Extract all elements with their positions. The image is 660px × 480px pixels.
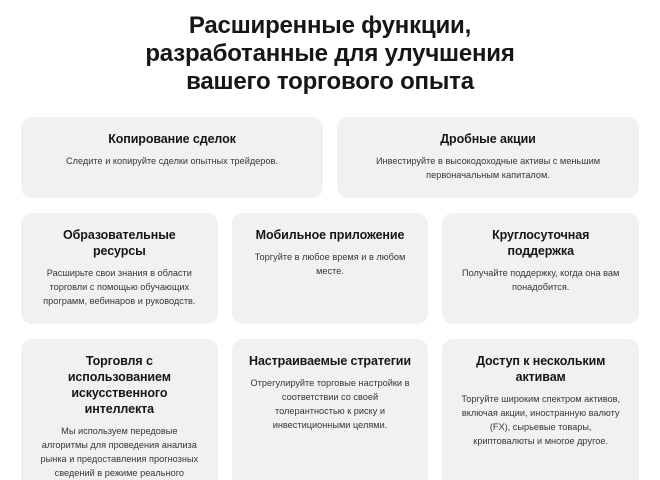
feature-card-description: Получайте поддержку, когда она вам понад… [458, 266, 623, 294]
page-title-line-2: разработанные для улучшения [120, 40, 540, 68]
feature-card-mobile-app[interactable]: Мобильное приложение Торгуйте в любое вр… [232, 213, 429, 324]
page-title-line-3: вашего торгового опыта [120, 68, 540, 96]
features-page: Расширенные функции, разработанные для у… [0, 0, 660, 480]
feature-card-title: Торговля с использованием искусственного… [37, 353, 202, 417]
feature-card-education[interactable]: Образовательные ресурсы Расширьте свои з… [21, 213, 218, 324]
page-title-line-1: Расширенные функции, [120, 12, 540, 40]
feature-card-title: Образовательные ресурсы [37, 227, 202, 259]
feature-card-title: Настраиваемые стратегии [248, 353, 413, 369]
feature-card-description: Торгуйте в любое время и в любом месте. [248, 250, 413, 278]
feature-card-custom-strategies[interactable]: Настраиваемые стратегии Отрегулируйте то… [232, 339, 429, 480]
feature-card-description: Следите и копируйте сделки опытных трейд… [37, 154, 307, 168]
feature-card-description: Торгуйте широким спектром активов, включ… [458, 392, 623, 448]
feature-card-description: Мы используем передовые алгоритмы для пр… [37, 424, 202, 480]
feature-card-title: Доступ к нескольким активам [458, 353, 623, 385]
feature-row-2: Образовательные ресурсы Расширьте свои з… [21, 213, 639, 324]
feature-card-description: Расширьте свои знания в области торговли… [37, 266, 202, 308]
feature-card-fractional-shares[interactable]: Дробные акции Инвестируйте в высокодоход… [337, 117, 639, 198]
feature-card-title: Круглосуточная поддержка [458, 227, 623, 259]
feature-card-multi-asset[interactable]: Доступ к нескольким активам Торгуйте шир… [442, 339, 639, 480]
feature-card-support[interactable]: Круглосуточная поддержка Получайте подде… [442, 213, 639, 324]
feature-card-description: Отрегулируйте торговые настройки в соотв… [248, 376, 413, 432]
feature-card-copy-trading[interactable]: Копирование сделок Следите и копируйте с… [21, 117, 323, 198]
feature-row-3: Торговля с использованием искусственного… [21, 339, 639, 480]
feature-row-1: Копирование сделок Следите и копируйте с… [21, 117, 639, 198]
page-title: Расширенные функции, разработанные для у… [120, 10, 540, 96]
feature-card-description: Инвестируйте в высокодоходные активы с м… [353, 154, 623, 182]
feature-card-grid: Копирование сделок Следите и копируйте с… [21, 117, 639, 480]
feature-card-title: Дробные акции [353, 131, 623, 147]
feature-card-title: Копирование сделок [37, 131, 307, 147]
feature-card-ai-trading[interactable]: Торговля с использованием искусственного… [21, 339, 218, 480]
feature-card-title: Мобильное приложение [248, 227, 413, 243]
